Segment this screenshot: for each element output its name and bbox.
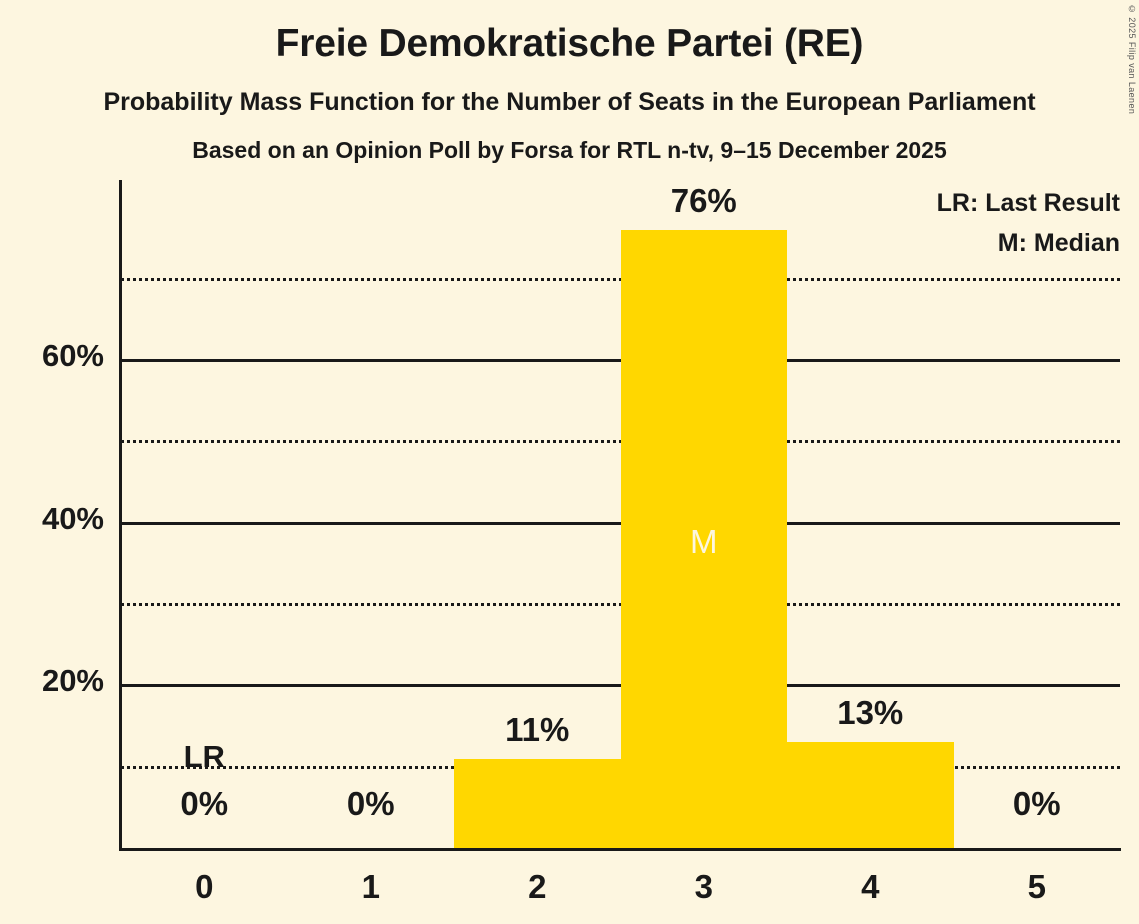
bar-value-label-seats-1: 0% bbox=[288, 785, 455, 823]
chart-legend: LR: Last Result M: Median bbox=[937, 183, 1120, 263]
legend-entry-median: M: Median bbox=[937, 223, 1120, 263]
x-axis-line bbox=[119, 848, 1121, 851]
x-tick-label-3: 3 bbox=[621, 868, 788, 906]
median-marker: M bbox=[621, 523, 788, 561]
y-tick-label-40pct: 40% bbox=[42, 501, 104, 537]
y-tick-label-20pct: 20% bbox=[42, 663, 104, 699]
x-tick-label-4: 4 bbox=[787, 868, 954, 906]
bar-seats-2 bbox=[454, 759, 621, 848]
bar-value-label-seats-4: 13% bbox=[787, 694, 954, 732]
x-tick-label-5: 5 bbox=[954, 868, 1121, 906]
x-tick-label-1: 1 bbox=[288, 868, 455, 906]
bar-value-label-seats-5: 0% bbox=[954, 785, 1121, 823]
chart-plot-area: 0%LR0%11%76%M13%0% 20%40%60% 012345 bbox=[0, 0, 1139, 924]
legend-entry-last-result: LR: Last Result bbox=[937, 183, 1120, 223]
bar-value-label-seats-0: 0% bbox=[121, 785, 288, 823]
x-tick-label-2: 2 bbox=[454, 868, 621, 906]
last-result-marker: LR bbox=[121, 739, 288, 775]
y-tick-label-60pct: 60% bbox=[42, 338, 104, 374]
bar-seats-4 bbox=[787, 742, 954, 848]
bar-value-label-seats-3: 76% bbox=[621, 182, 788, 220]
bar-value-label-seats-2: 11% bbox=[454, 711, 621, 749]
x-tick-label-0: 0 bbox=[121, 868, 288, 906]
y-axis-line bbox=[119, 180, 122, 851]
